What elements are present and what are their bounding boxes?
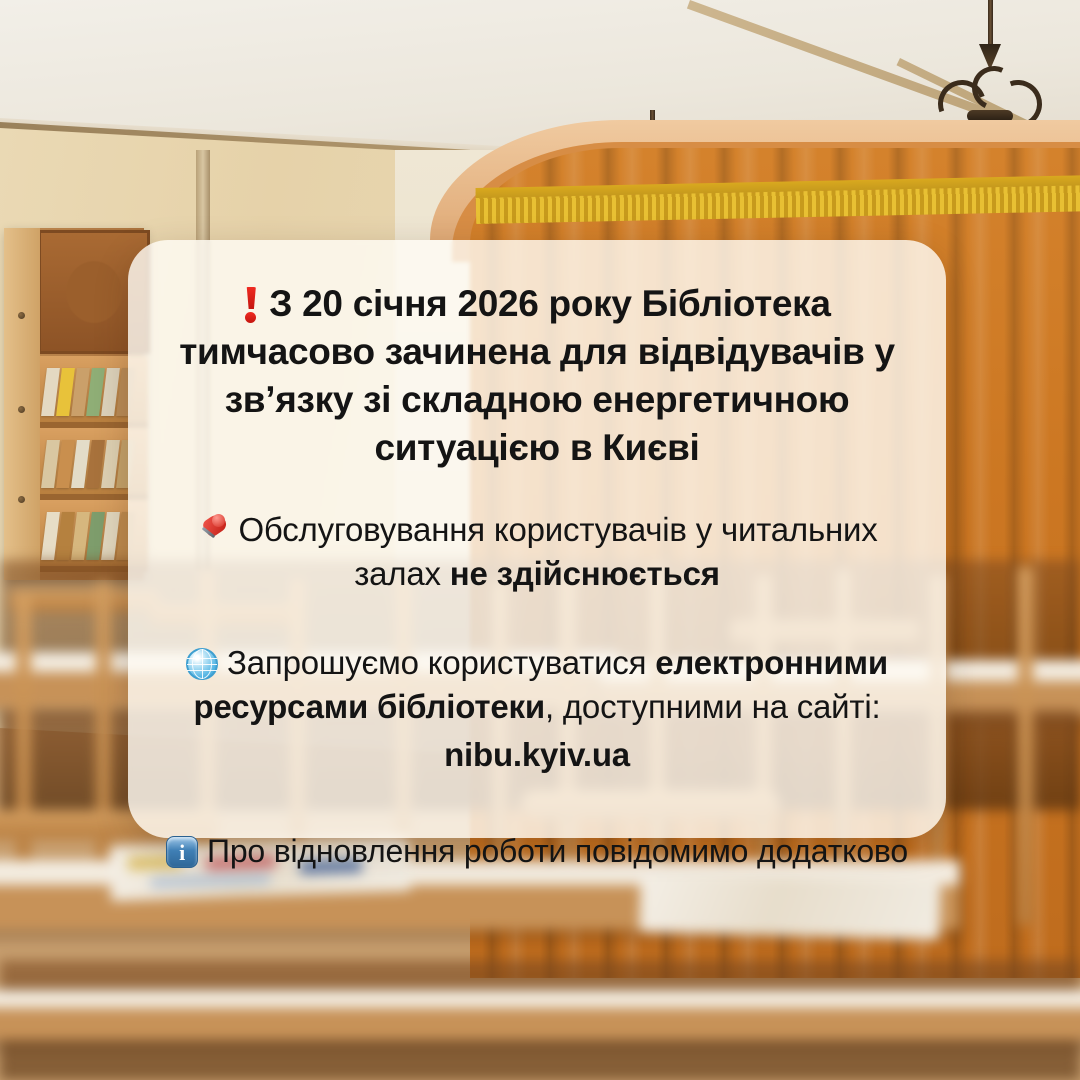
- globe-icon: [186, 648, 218, 680]
- announcement-card: З 20 січня 2026 року Бібліотека тимчасов…: [128, 240, 946, 838]
- online-resources-tail: , доступними на сайті:: [545, 688, 881, 725]
- announcement-graphic: З 20 січня 2026 року Бібліотека тимчасов…: [0, 0, 1080, 1080]
- information-icon: i: [166, 836, 198, 868]
- online-resources-notice: Запрошуємо користуватися електронними ре…: [162, 641, 912, 776]
- reopening-notice: i Про відновлення роботи повідомимо дода…: [162, 830, 912, 872]
- library-website-link[interactable]: nibu.kyiv.ua: [162, 733, 912, 777]
- headline: З 20 січня 2026 року Бібліотека тимчасов…: [162, 280, 912, 472]
- service-notice-emphasis: не здійснюється: [450, 555, 720, 592]
- pushpin-icon: [196, 514, 230, 548]
- service-notice: Обслуговування користувачів у читальних …: [162, 508, 912, 595]
- reopening-notice-text: Про відновлення роботи повідомимо додатк…: [207, 833, 908, 869]
- book-display-case: [4, 228, 144, 580]
- case-side-panel: [4, 228, 40, 580]
- red-exclamation-mark-icon: [243, 287, 259, 321]
- headline-text: З 20 січня 2026 року Бібліотека тимчасов…: [179, 283, 895, 468]
- online-resources-lead: Запрошуємо користуватися: [227, 644, 655, 681]
